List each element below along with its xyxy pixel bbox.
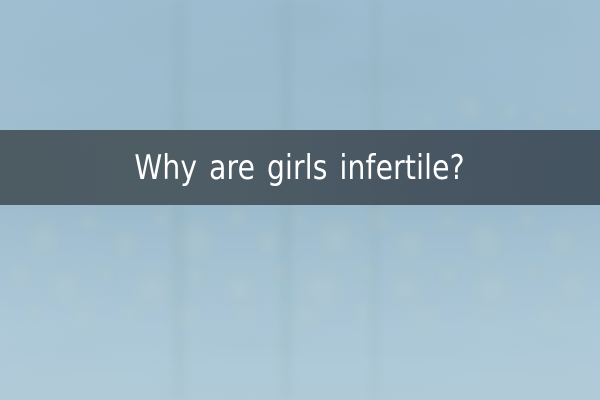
hero-banner: Why are girls infertile?: [0, 0, 600, 400]
page-title: Why are girls infertile?: [135, 151, 465, 185]
title-banner: Why are girls infertile?: [0, 130, 600, 205]
